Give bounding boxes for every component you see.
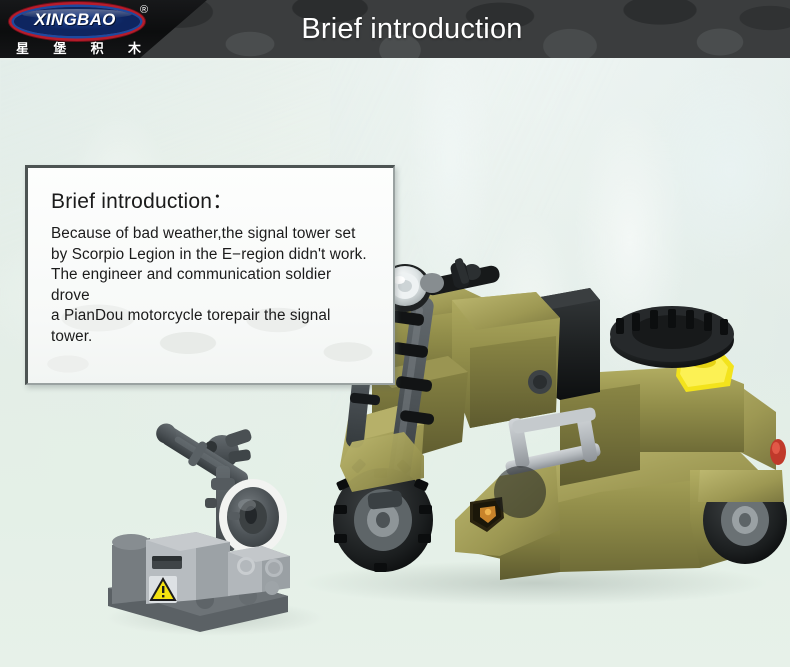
brief-introduction-card: Brief introduction： Because of bad weath…: [25, 165, 395, 385]
brand-logo[interactable]: XINGBAO ® 星 堡 积 木: [12, 5, 147, 55]
banner-header: Brief introduction XINGBAO ® 星 堡 积 木: [0, 0, 790, 58]
product-banner: Brief introduction XINGBAO ® 星 堡 积 木 Bri…: [0, 0, 790, 667]
brand-cn-char-2: 堡: [53, 38, 67, 57]
tower-ground-shadow: [105, 600, 325, 636]
brand-wordmark: XINGBAO: [12, 5, 138, 34]
card-heading: Brief introduction：: [51, 185, 373, 215]
brand-cn-char-1: 星: [16, 38, 30, 57]
brand-cn-char-3: 积: [91, 38, 105, 57]
brand-chinese-name: 星 堡 积 木: [16, 38, 142, 57]
motorcycle-ground-shadow: [300, 560, 770, 606]
card-content: Brief introduction： Because of bad weath…: [28, 168, 393, 347]
brand-cn-char-4: 木: [128, 38, 142, 57]
registered-trademark-icon: ®: [140, 5, 148, 16]
card-body-text: Because of bad weather,the signal tower …: [51, 224, 373, 347]
